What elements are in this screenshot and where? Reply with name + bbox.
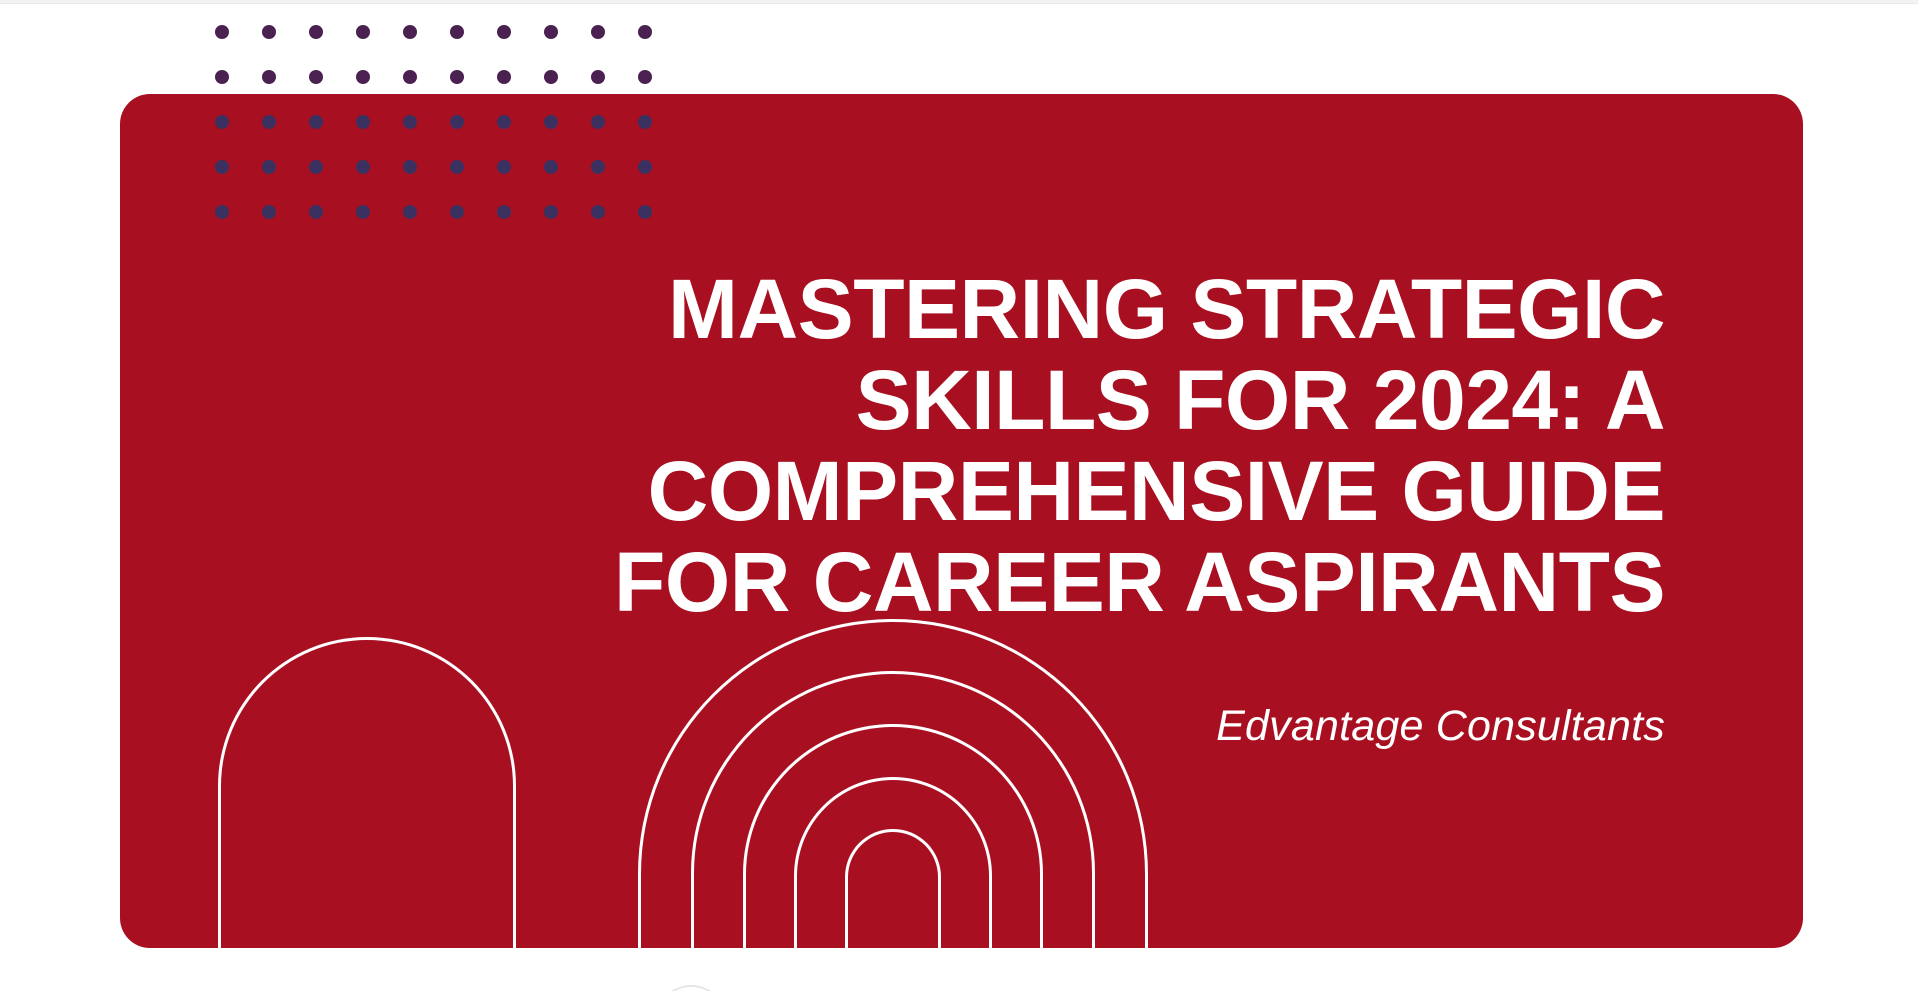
dot xyxy=(215,25,229,39)
hero-card: MASTERING STRATEGIC SKILLS FOR 2024: A C… xyxy=(120,94,1803,948)
dot xyxy=(262,70,276,84)
dot xyxy=(638,25,652,39)
dot xyxy=(497,25,511,39)
dot xyxy=(215,70,229,84)
dot xyxy=(638,70,652,84)
arch-outline-icon xyxy=(218,637,516,948)
dot xyxy=(591,25,605,39)
dot xyxy=(544,70,558,84)
dot xyxy=(450,25,464,39)
dot xyxy=(309,70,323,84)
page-title: MASTERING STRATEGIC SKILLS FOR 2024: A C… xyxy=(505,264,1665,628)
dot xyxy=(356,25,370,39)
ghost-arch-icon xyxy=(655,985,727,991)
dot xyxy=(450,70,464,84)
page-top-divider xyxy=(0,0,1918,4)
dot xyxy=(309,25,323,39)
dot xyxy=(497,70,511,84)
page-subtitle: Edvantage Consultants xyxy=(505,628,1665,750)
dot xyxy=(544,25,558,39)
arch-ring xyxy=(845,829,941,948)
dot xyxy=(403,70,417,84)
hero-text-block: MASTERING STRATEGIC SKILLS FOR 2024: A C… xyxy=(505,264,1665,750)
dot xyxy=(262,25,276,39)
slide-canvas: MASTERING STRATEGIC SKILLS FOR 2024: A C… xyxy=(0,0,1918,991)
dot xyxy=(403,25,417,39)
dot xyxy=(591,70,605,84)
dot xyxy=(356,70,370,84)
